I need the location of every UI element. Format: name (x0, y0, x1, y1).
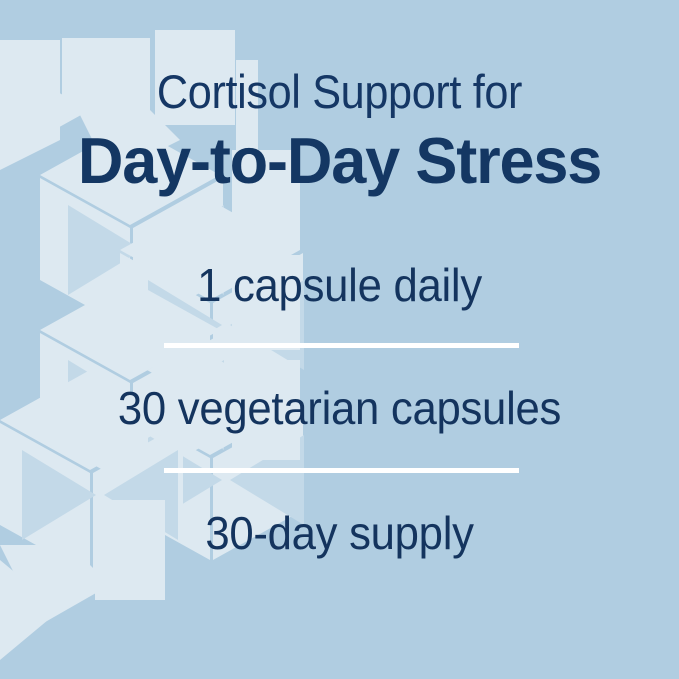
fact-dosage: 1 capsule daily (17, 262, 662, 308)
eyebrow-text: Cortisol Support for (27, 68, 652, 115)
divider-2 (164, 468, 519, 473)
page-title: Day-to-Day Stress (10, 128, 669, 193)
divider-1 (164, 343, 519, 348)
product-info-card: Cortisol Support for Day-to-Day Stress 1… (0, 0, 679, 679)
fact-supply: 30-day supply (17, 510, 662, 556)
fact-count: 30 vegetarian capsules (17, 385, 662, 431)
card-content: Cortisol Support for Day-to-Day Stress 1… (0, 0, 679, 679)
